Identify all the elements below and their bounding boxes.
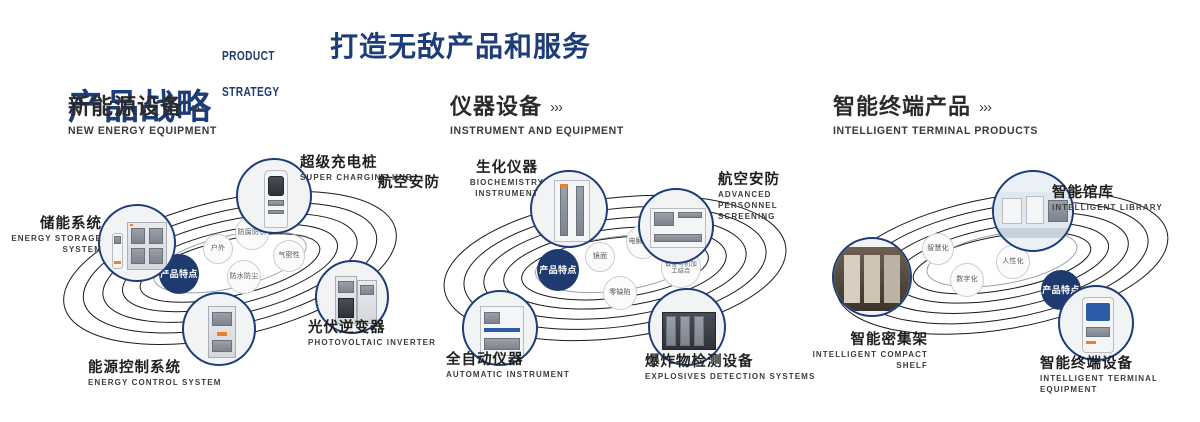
label-cn: 储能系统 (0, 216, 102, 233)
label-cn: 生化仪器 (452, 160, 562, 177)
screening-machine-icon (640, 190, 712, 262)
feature-bubble-mirror[interactable]: 镜面 (585, 242, 615, 272)
label-cn: 超级充电桩 (300, 155, 413, 172)
feature-bubble-digital[interactable]: 数字化 (950, 263, 984, 297)
label-terminal-equipment: 智能终端设备 INTELLIGENT TERMINAL EQUIPMENT (1040, 356, 1200, 395)
label-en: ENERGY STORAGE SYSTEM (0, 233, 102, 255)
page-title-en-line1: PRODUCT (222, 50, 280, 62)
label-automatic-instrument: 全自动仪器 AUTOMATIC INSTRUMENT (446, 352, 570, 380)
label-energy-control: 能源控制系统 ENERGY CONTROL SYSTEM (88, 360, 222, 388)
label-cn: 智能馆库 (1052, 185, 1163, 202)
feature-bubble-airtight[interactable]: 气密性 (273, 240, 305, 272)
label-en: PHOTOVOLTAIC INVERTER (308, 337, 436, 348)
product-node-energy-control[interactable] (182, 292, 256, 366)
label-cn: 智能终端设备 (1040, 356, 1200, 373)
feature-bubble-label: 智慧化 (927, 245, 949, 254)
feature-bubble-label: 人性化 (1002, 258, 1024, 267)
section-title-intelligent-terminal: 智能终端产品››› INTELLIGENT TERMINAL PRODUCTS (833, 96, 1038, 137)
label-biochemistry-instrument: 生化仪器 BIOCHEMISTRY INSTRUMENT (452, 160, 562, 199)
battery-cabinet-icon (100, 206, 174, 280)
section-title-instrument: 仪器设备››› INSTRUMENT AND EQUIPMENT (450, 96, 624, 137)
detection-rack-icon (650, 290, 724, 364)
product-node-terminal-equipment[interactable] (1058, 285, 1134, 361)
label-cn: 航空安防 (718, 172, 814, 189)
label-en: ENERGY CONTROL SYSTEM (88, 377, 222, 388)
label-en: INTELLIGENT TERMINAL EQUIPMENT (1040, 373, 1200, 395)
label-cn: 智能密集架 (788, 332, 928, 349)
feature-bubble-waterproof[interactable]: 防水防尘 (227, 260, 261, 294)
label-en: AUTOMATIC INSTRUMENT (446, 369, 570, 380)
feature-bubble-label: 镜面 (593, 253, 607, 262)
label-personnel-screening: 航空安防 ADVANCED PERSONNEL SCREENING (718, 172, 814, 222)
product-node-energy-storage[interactable] (98, 204, 176, 282)
feature-bubble-label: 气密性 (278, 252, 300, 261)
page-title-en: PRODUCT STRATEGY (222, 26, 280, 122)
product-node-personnel-screening[interactable] (638, 188, 714, 264)
section-title-cn: 仪器设备 (450, 96, 542, 118)
label-en: INTELLIGENT LIBRARY (1052, 202, 1163, 213)
label-cn: 航空安防 (340, 175, 440, 192)
label-compact-shelf: 智能密集架 INTELLIGENT COMPACT SHELF (788, 332, 928, 371)
section-title-en: INTELLIGENT TERMINAL PRODUCTS (833, 125, 1038, 137)
label-cn: 光伏逆变器 (308, 320, 436, 337)
label-cn: 能源控制系统 (88, 360, 222, 377)
compact-shelf-icon (834, 239, 910, 315)
section-title-cn: 智能终端产品 (833, 96, 971, 118)
label-aviation-security-left: 航空安防 (340, 175, 440, 192)
page-subtitle: 打造无敌产品和服务 (330, 32, 591, 63)
label-cn: 全自动仪器 (446, 352, 570, 369)
feature-bubble-intelligent[interactable]: 智慧化 (922, 233, 954, 265)
chevron-right-icons: ››› (191, 100, 203, 115)
label-en: BIOCHEMISTRY INSTRUMENT (452, 177, 562, 199)
section-title-cn: 新能源设备 (68, 96, 183, 118)
feature-bubble-label: 防水防尘 (230, 273, 259, 282)
feature-bubble-label: 户外 (211, 245, 225, 254)
page-title-en-line2: STRATEGY (222, 86, 280, 98)
label-en: INTELLIGENT COMPACT SHELF (788, 349, 928, 371)
label-en: EXPLOSIVES DETECTION SYSTEMS (645, 371, 815, 382)
label-energy-storage: 储能系统 ENERGY STORAGE SYSTEM (0, 216, 102, 255)
feature-bubble-outdoor[interactable]: 户外 (203, 234, 233, 264)
label-en: ADVANCED PERSONNEL SCREENING (718, 189, 814, 222)
product-node-compact-shelf[interactable] (832, 237, 912, 317)
feature-bubble-label: 零缺陷 (609, 289, 631, 298)
control-cabinet-icon (184, 294, 254, 364)
core-bubble-label: 产品特点 (539, 265, 577, 276)
section-title-en: NEW ENERGY EQUIPMENT (68, 125, 217, 137)
section-title-new-energy: 新能源设备››› NEW ENERGY EQUIPMENT (68, 96, 217, 137)
label-photovoltaic-inverter: 光伏逆变器 PHOTOVOLTAIC INVERTER (308, 320, 436, 348)
product-strategy-infographic: 产品战略 PRODUCT STRATEGY 打造无敌产品和服务 新能源设备›››… (0, 0, 1200, 422)
kiosk-terminal-icon (1060, 287, 1132, 359)
chevron-right-icons: ››› (550, 100, 562, 115)
section-title-en: INSTRUMENT AND EQUIPMENT (450, 125, 624, 137)
core-bubble-product-features[interactable]: 产品特点 (538, 250, 578, 290)
feature-bubble-zero-defect[interactable]: 零缺陷 (603, 276, 637, 310)
feature-bubble-label: 数字化 (956, 276, 978, 285)
label-intelligent-library: 智能馆库 INTELLIGENT LIBRARY (1052, 185, 1163, 213)
chevron-right-icons: ››› (979, 100, 991, 115)
